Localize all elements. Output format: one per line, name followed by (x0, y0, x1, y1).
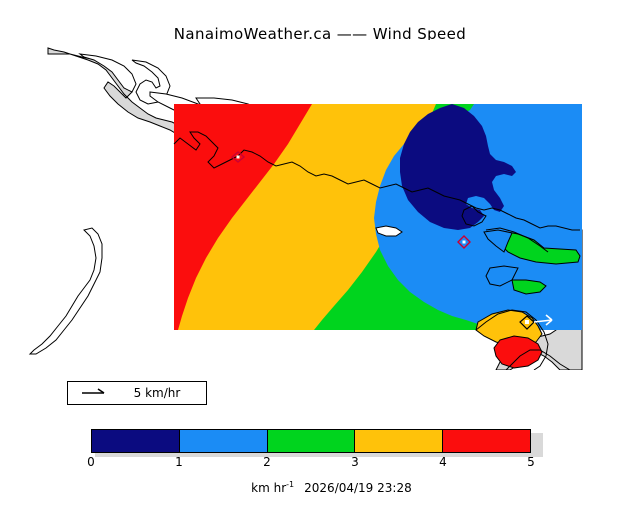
colorbar-timestamp: 2026/04/19 23:28 (304, 481, 412, 495)
colorbar-units-exponent: -1 (286, 480, 294, 489)
wind-scale-legend: 5 km/hr (67, 381, 207, 405)
colorbar-band-4-5[interactable] (442, 430, 530, 452)
colorbar-bands[interactable] (91, 429, 531, 453)
wind-scale-label: 5 km/hr (112, 386, 202, 400)
wind-speed-contour-map[interactable] (0, 40, 640, 370)
contour-field-group (174, 104, 582, 330)
colorbar-band-2-3[interactable] (267, 430, 355, 452)
colorbar[interactable]: 0 1 2 3 4 5 km hr-12026/04/19 23:28 (0, 424, 640, 480)
map-svg[interactable] (0, 40, 640, 370)
colorbar-units-label: km hr (251, 481, 286, 495)
colorbar-band-1-2[interactable] (179, 430, 267, 452)
colorbar-caption: km hr-12026/04/19 23:28 (0, 466, 640, 509)
wind-barb-arrow-icon (78, 382, 112, 404)
colorbar-band-3-4[interactable] (354, 430, 442, 452)
weather-map-page: NanaimoWeather.ca —— Wind Speed (0, 0, 640, 480)
colorbar-band-0-1[interactable] (92, 430, 179, 452)
